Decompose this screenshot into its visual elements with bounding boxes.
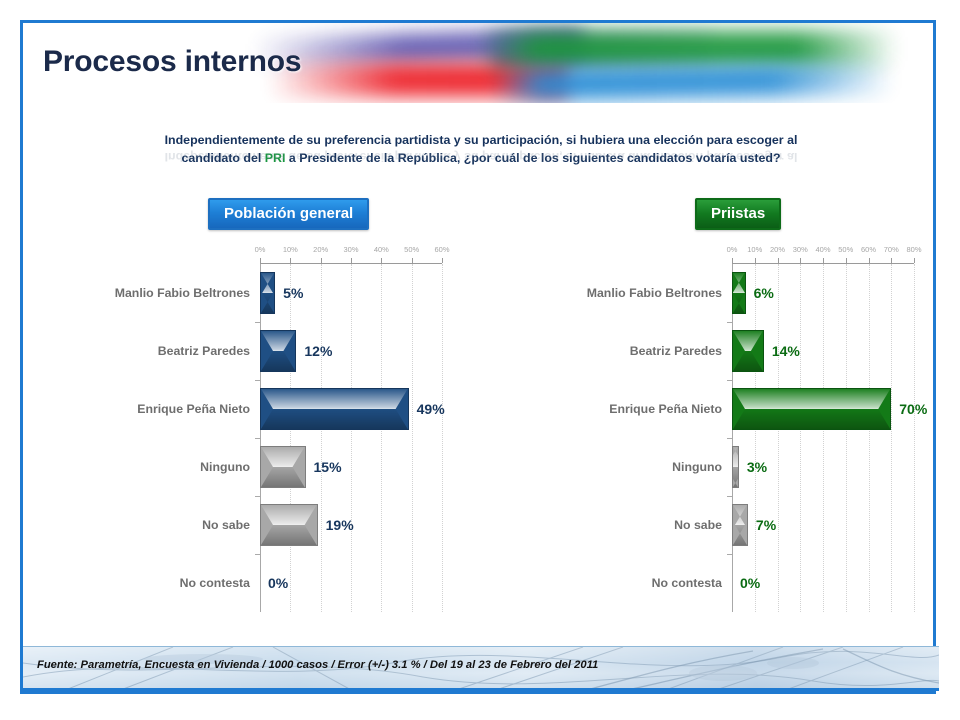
x-tick-mark (755, 258, 756, 263)
x-tick-mark (891, 258, 892, 263)
bar (260, 388, 409, 430)
footer-band: Fuente: Parametría, Encuesta en Vivienda… (23, 646, 939, 691)
chart-row: Enrique Peña Nieto70% (555, 380, 915, 438)
bar (732, 330, 764, 372)
chart-row: No contesta0% (555, 554, 915, 612)
bar (260, 446, 306, 488)
category-label: Manlio Fabio Beltrones (587, 286, 722, 300)
question-text: Independientemente de su preferencia par… (103, 131, 859, 167)
category-label: Ninguno (200, 460, 250, 474)
x-tick-mark (800, 258, 801, 263)
category-tick (727, 554, 732, 555)
x-tick-label: 40% (374, 245, 389, 254)
question-highlight-pri: PRI (265, 151, 286, 165)
banner-band-red (268, 63, 568, 97)
category-label: Manlio Fabio Beltrones (115, 286, 250, 300)
bar (732, 446, 739, 488)
x-tick-label: 60% (861, 245, 876, 254)
question-line-2: candidato del PRI a Presidente de la Rep… (103, 149, 859, 167)
x-tick-mark (869, 258, 870, 263)
x-tick-label: 50% (404, 245, 419, 254)
x-tick-label: 10% (283, 245, 298, 254)
category-label: Enrique Peña Nieto (137, 402, 250, 416)
bar-value-label: 0% (268, 575, 288, 591)
x-tick-mark (846, 258, 847, 263)
category-tick (727, 496, 732, 497)
x-tick-mark (381, 258, 382, 263)
category-label: Enrique Peña Nieto (609, 402, 722, 416)
banner-band-purple (253, 28, 583, 67)
category-label: No contesta (652, 576, 722, 590)
x-tick-label: 20% (770, 245, 785, 254)
x-tick-label: 60% (434, 245, 449, 254)
chart-row: No sabe7% (555, 496, 915, 554)
footer-accent-rule (23, 688, 939, 691)
bar-value-label: 49% (417, 401, 445, 417)
bar-value-label: 7% (756, 517, 776, 533)
x-tick-label: 0% (255, 245, 266, 254)
chart-row: Ninguno3% (555, 438, 915, 496)
x-tick-label: 70% (884, 245, 899, 254)
x-tick-mark (412, 258, 413, 263)
bar (732, 504, 748, 546)
x-tick-mark (914, 258, 915, 263)
x-tick-label: 50% (838, 245, 853, 254)
bar-value-label: 6% (754, 285, 774, 301)
banner-band-purple-tail (493, 33, 713, 72)
chart-row: Enrique Peña Nieto49% (83, 380, 443, 438)
category-tick (255, 438, 260, 439)
category-label: No contesta (180, 576, 250, 590)
category-label: Beatriz Paredes (630, 344, 722, 358)
bar (732, 388, 891, 430)
bar (260, 504, 318, 546)
slide-frame: Procesos internos Independientemente de … (20, 20, 936, 694)
banner-band-blue (493, 63, 893, 102)
x-tick-label: 30% (343, 245, 358, 254)
bar-value-label: 19% (326, 517, 354, 533)
category-tick (255, 322, 260, 323)
chart-row: No sabe19% (83, 496, 443, 554)
bar-value-label: 5% (283, 285, 303, 301)
bar-value-label: 14% (772, 343, 800, 359)
category-tick (255, 380, 260, 381)
x-tick-mark (778, 258, 779, 263)
chart-row: No contesta0% (83, 554, 443, 612)
category-label: No sabe (202, 518, 250, 532)
panel-header-priistas: Priistas (695, 198, 781, 230)
x-tick-label: 0% (727, 245, 738, 254)
bar-value-label: 12% (304, 343, 332, 359)
category-tick (255, 554, 260, 555)
chart-row: Beatriz Paredes12% (83, 322, 443, 380)
x-tick-mark (290, 258, 291, 263)
category-tick (727, 438, 732, 439)
chart-priistas: 0%10%20%30%40%50%60%70%80%Manlio Fabio B… (555, 245, 915, 635)
category-label: Ninguno (672, 460, 722, 474)
question-line-1: Independientemente de su preferencia par… (103, 131, 859, 149)
x-tick-mark (823, 258, 824, 263)
question-line-2-prefix: candidato del (181, 151, 264, 165)
x-tick-mark (321, 258, 322, 263)
x-tick-mark (260, 258, 261, 263)
bar-value-label: 15% (314, 459, 342, 475)
bar-value-label: 0% (740, 575, 760, 591)
x-tick-mark (442, 258, 443, 263)
panel-header-poblacion-general: Población general (208, 198, 369, 230)
category-tick (727, 380, 732, 381)
x-tick-label: 20% (313, 245, 328, 254)
category-label: Beatriz Paredes (158, 344, 250, 358)
banner-band-green (478, 31, 898, 67)
question-line-2-suffix: a Presidente de la República, ¿por cuál … (285, 151, 780, 165)
chart-row: Manlio Fabio Beltrones5% (83, 264, 443, 322)
chart-row: Manlio Fabio Beltrones6% (555, 264, 915, 322)
chart-row: Ninguno15% (83, 438, 443, 496)
x-tick-mark (351, 258, 352, 263)
bar-value-label: 70% (899, 401, 927, 417)
chart-poblacion-general: 0%10%20%30%40%50%60%Manlio Fabio Beltron… (83, 245, 443, 635)
bar (732, 272, 746, 314)
x-tick-label: 80% (906, 245, 921, 254)
category-tick (255, 496, 260, 497)
x-tick-mark (732, 258, 733, 263)
category-tick (727, 322, 732, 323)
x-tick-label: 40% (815, 245, 830, 254)
slide-canvas: Procesos internos Independientemente de … (0, 0, 960, 720)
source-note: Fuente: Parametría, Encuesta en Vivienda… (37, 659, 598, 671)
x-tick-label: 30% (793, 245, 808, 254)
x-tick-label: 10% (747, 245, 762, 254)
page-title: Procesos internos (43, 45, 301, 79)
bar (260, 272, 275, 314)
bar-value-label: 3% (747, 459, 767, 475)
category-label: No sabe (674, 518, 722, 532)
chart-row: Beatriz Paredes14% (555, 322, 915, 380)
bar (260, 330, 296, 372)
